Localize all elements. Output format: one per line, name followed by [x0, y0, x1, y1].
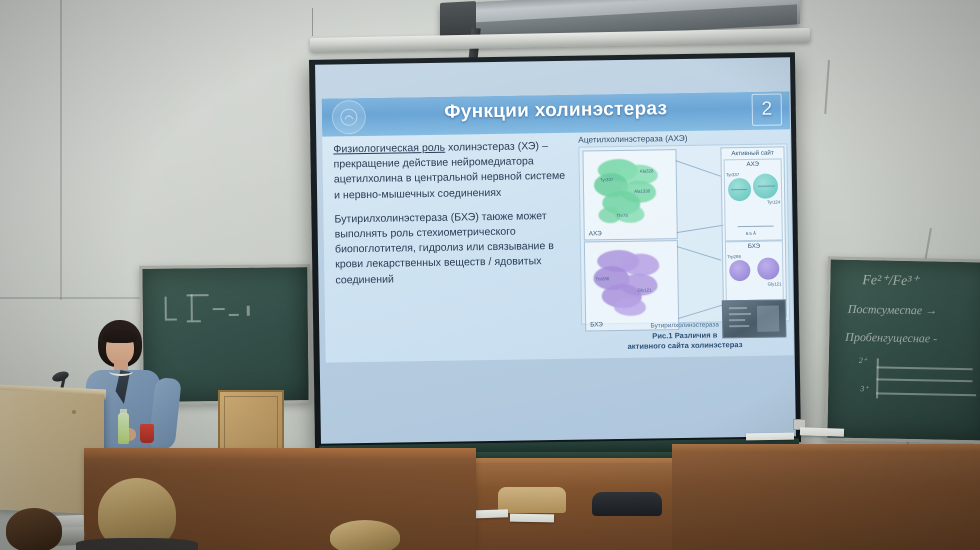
- slide-body-text: Физиологическая роль холинэстераз (ХЭ) –…: [333, 139, 575, 298]
- screen-surface: Функции холинэстераз 2 Физиологическая р…: [315, 57, 796, 443]
- presenter-hair-front: [103, 329, 137, 343]
- papers-stack: [510, 514, 554, 523]
- figure-caption-line1: Рис.1 Различия в: [652, 330, 717, 340]
- protein-structure-bche: Trp286 Gly121: [593, 247, 666, 316]
- protein-structure-ache: Ala328 Ala1330 Tyr337 Thr75: [592, 156, 665, 225]
- lectern-knob: [72, 410, 76, 414]
- papers-stack: [746, 433, 794, 441]
- figure-connector-line: [677, 225, 725, 233]
- desk-rail: [84, 448, 476, 458]
- binding-pocket: [757, 257, 779, 279]
- desk-rail: [672, 444, 980, 453]
- projection-screen: Функции холинэстераз 2 Физиологическая р…: [309, 52, 801, 450]
- red-cup: [140, 424, 154, 443]
- active-site-panel: Активный сайт АХЭ Tyr337 Tyr124 6.5 Å: [720, 146, 787, 318]
- presenter-necklace: [109, 367, 133, 376]
- figure-panel: Ala328 Ala1330 Tyr337 Thr75 АХЭ: [578, 143, 790, 324]
- residue-label: Tyr337: [726, 172, 740, 177]
- wall-seam: [60, 0, 62, 300]
- binding-pocket: [729, 260, 750, 281]
- active-site-label-bche: БХЭ: [726, 242, 782, 250]
- chalk-text-line: Пробенгущеснае -: [845, 330, 937, 347]
- chalkboard-right: Fe²⁺/Fe³⁺ Постсумеспае → Пробенгущеснае …: [824, 256, 980, 443]
- residue-label: Trp286: [727, 254, 741, 259]
- residue-label: Ala1330: [634, 188, 650, 193]
- chalk-axis-line: [876, 392, 976, 395]
- residue-label: Gly121: [638, 287, 652, 292]
- slide-figure: Ацетилхолинэстераза (АХЭ): [578, 131, 788, 354]
- figure-caption: Бутирилхолинэстераза Рис.1 Различия в ак…: [581, 319, 788, 352]
- protein-box-bche: Trp286 Gly121 БХЭ: [584, 240, 679, 331]
- chalk-text-formula: Fe²⁺/Fe³⁺: [862, 272, 919, 290]
- figure-connector-line: [678, 305, 722, 319]
- wall-seam: [0, 297, 140, 299]
- active-site-title: Активный сайт: [721, 149, 783, 157]
- chalk-axis-line: [876, 378, 972, 381]
- audience-head: [6, 508, 62, 550]
- distance-label: 6.5 Å: [746, 231, 756, 236]
- inset-detail: [729, 313, 751, 315]
- residue-label: Gly121: [768, 281, 782, 286]
- audience-head: [330, 520, 400, 550]
- screen-cord: [312, 8, 313, 36]
- chair-dark: [592, 492, 662, 516]
- residue-label: Trp286: [595, 276, 609, 281]
- residue-label: Tyr124: [767, 199, 781, 204]
- figure-caption-line2: активного сайта холинэстераз: [627, 340, 742, 351]
- protein-box-ache: Ala328 Ala1330 Tyr337 Thr75 АХЭ: [582, 149, 677, 240]
- chalk-mark: [247, 306, 250, 316]
- underlined-phrase: Физиологическая роль: [333, 142, 445, 156]
- chalk-mark: [229, 314, 239, 316]
- slide-number-badge: 2: [752, 93, 782, 125]
- slide-paragraph-2: Бутирилхолинэстераза (БХЭ) таюже может в…: [334, 209, 575, 289]
- residue-label: Ala328: [640, 168, 654, 173]
- chalk-mark: [187, 320, 201, 322]
- chalk-mark: [191, 294, 193, 320]
- chalk-text-line: Постсумеспае →: [848, 302, 938, 319]
- chalk-mark: [213, 308, 225, 310]
- figure-heading: Ацетилхолинэстераза (АХЭ): [578, 131, 785, 144]
- residue-label: Tyr337: [600, 177, 614, 182]
- chalk-axis-label: 2⁺: [859, 356, 867, 365]
- slide-paragraph-1: Физиологическая роль холинэстераз (ХЭ) –…: [333, 139, 574, 204]
- audience-shoulder: [76, 538, 198, 550]
- active-site-ache: АХЭ Tyr337 Tyr124 6.5 Å: [724, 158, 783, 241]
- distance-bracket: [738, 226, 774, 228]
- presentation-slide: Функции холинэстераз 2 Физиологическая р…: [322, 91, 794, 362]
- chair-wooden: [498, 487, 566, 513]
- chalk-mark: [165, 297, 167, 319]
- lecture-hall-photo: Fe²⁺/Fe³⁺ Постсумеспае → Пробенгущеснае …: [0, 0, 980, 550]
- protein-label-ache: АХЭ: [589, 230, 602, 237]
- chalk-axis-label: 3⁺: [860, 384, 868, 393]
- residue-label: Thr75: [616, 213, 628, 218]
- water-bottle: [118, 413, 129, 444]
- active-site-label-ache: АХЭ: [725, 160, 781, 168]
- chalk-axis-line: [877, 366, 973, 369]
- figure-connector-line: [677, 246, 721, 260]
- figure-connector-line: [675, 160, 721, 177]
- papers-stack: [800, 427, 844, 437]
- student-desk-right: [672, 450, 980, 550]
- inset-detail: [729, 307, 747, 309]
